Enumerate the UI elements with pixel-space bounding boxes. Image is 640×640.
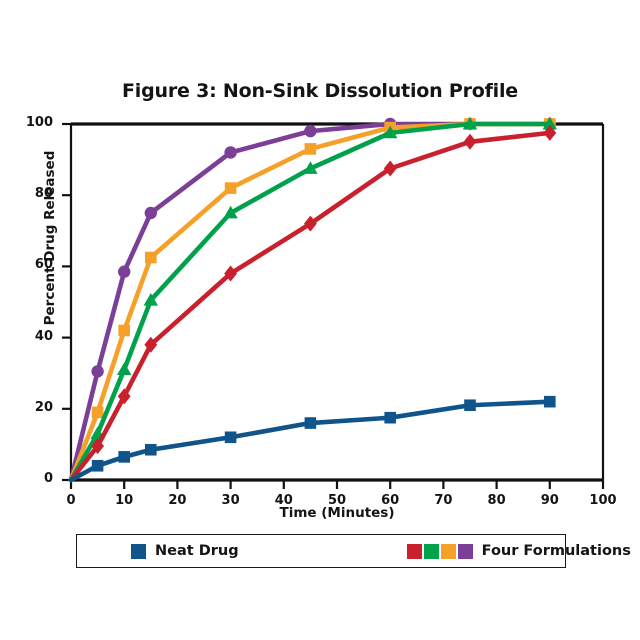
legend-swatch	[131, 544, 146, 559]
y-tick-label: 20	[13, 400, 53, 415]
series-line	[71, 402, 550, 480]
data-point-square	[145, 252, 157, 264]
figure-container: Figure 3: Non-Sink Dissolution Profile P…	[0, 0, 640, 640]
y-tick-label: 0	[13, 471, 53, 486]
data-point-diamond	[464, 134, 477, 150]
x-tick-label: 70	[423, 493, 463, 508]
y-tick-label: 40	[13, 329, 53, 344]
legend-swatch	[441, 544, 456, 559]
data-point-square	[305, 417, 317, 429]
data-point-square	[92, 407, 104, 419]
data-point-square	[464, 399, 476, 411]
x-tick-label: 90	[530, 493, 570, 508]
legend-entry-four-formulations: Four Formulations	[407, 543, 631, 559]
y-axis-title: Percent Drug Released	[42, 128, 58, 348]
y-tick-label: 60	[13, 257, 53, 272]
x-tick-label: 100	[583, 493, 623, 508]
legend-label-four-formulations: Four Formulations	[482, 543, 631, 559]
y-tick-label: 80	[13, 186, 53, 201]
data-point-square	[118, 325, 130, 337]
data-point-square	[118, 451, 130, 463]
data-point-square	[145, 444, 157, 456]
data-point-circle	[91, 365, 103, 377]
data-point-square	[544, 396, 556, 408]
chart-legend: Neat Drug Four Formulations	[76, 534, 566, 568]
x-tick-label: 20	[157, 493, 197, 508]
data-point-square	[305, 143, 317, 155]
legend-swatch	[407, 544, 422, 559]
data-point-circle	[224, 146, 236, 158]
series-neat-drug	[71, 396, 556, 480]
x-tick-label: 80	[477, 493, 517, 508]
data-point-circle	[118, 266, 130, 278]
data-point-triangle	[117, 362, 131, 375]
data-point-circle	[145, 207, 157, 219]
x-tick-label: 30	[211, 493, 251, 508]
x-tick-label: 10	[104, 493, 144, 508]
legend-swatch	[424, 544, 439, 559]
x-tick-label: 0	[51, 493, 91, 508]
data-point-square	[384, 412, 396, 424]
legend-entry-neat-drug: Neat Drug	[131, 543, 239, 559]
y-tick-label: 100	[13, 115, 53, 130]
x-tick-label: 40	[264, 493, 304, 508]
data-point-square	[92, 460, 104, 472]
data-point-square	[225, 431, 237, 443]
legend-swatches-neat-drug	[131, 544, 146, 559]
x-tick-label: 60	[370, 493, 410, 508]
data-point-square	[225, 182, 237, 194]
legend-swatches-four-formulations	[407, 544, 473, 559]
data-point-circle	[304, 125, 316, 137]
x-tick-label: 50	[317, 493, 357, 508]
legend-swatch	[458, 544, 473, 559]
legend-label-neat-drug: Neat Drug	[155, 543, 239, 559]
